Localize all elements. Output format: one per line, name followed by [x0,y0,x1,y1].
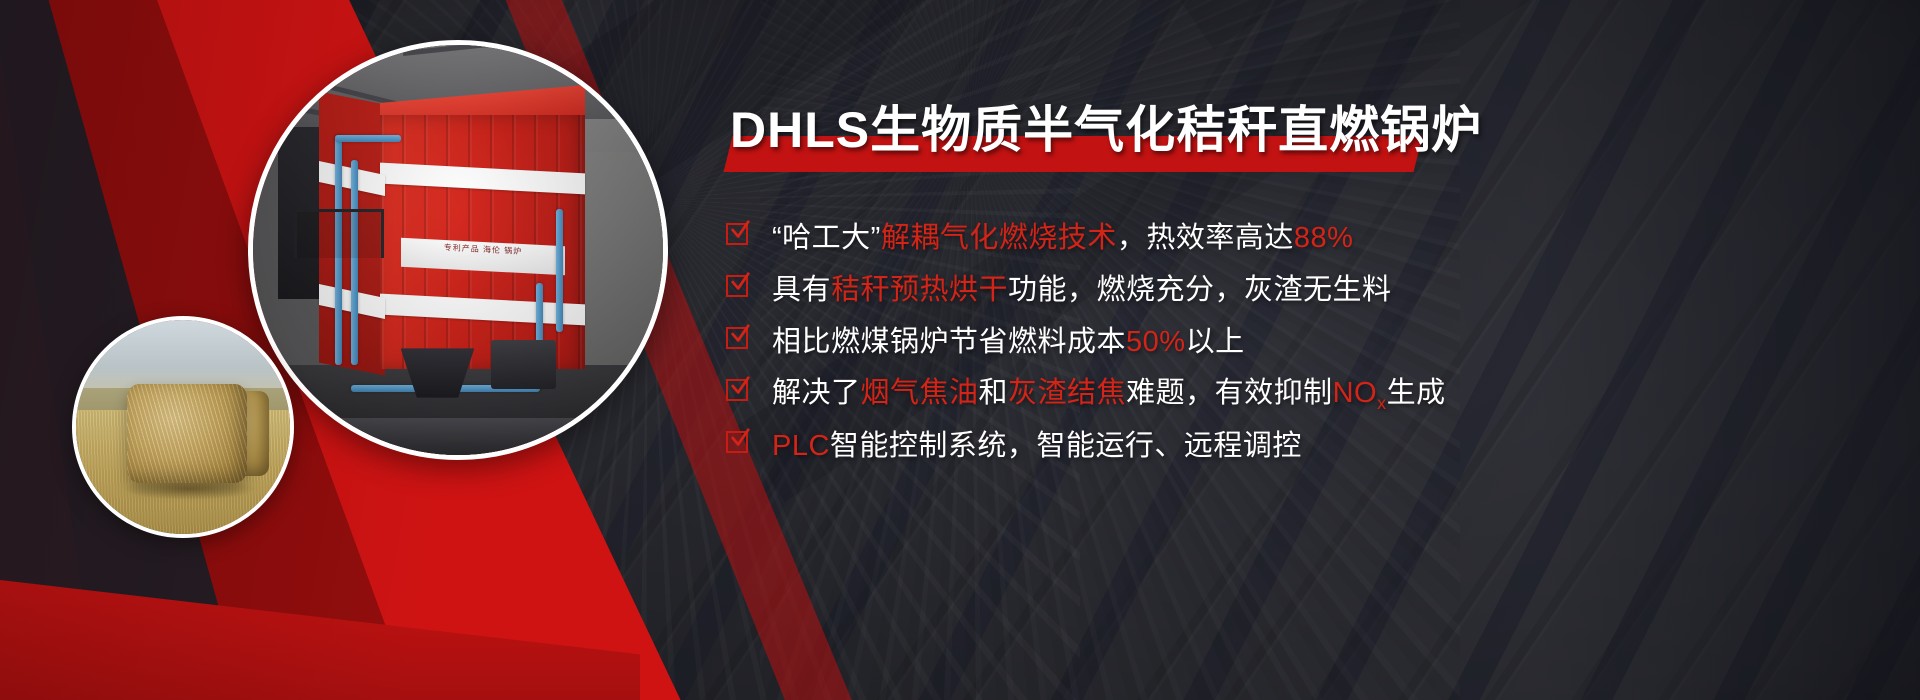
feature-text: PLC智能控制系统，智能运行、远程调控 [772,422,1302,464]
straw-bale-photo [72,316,294,538]
checkbox-checked-icon [726,379,750,403]
feature-text: “哈工大”解耦气化燃烧技术，热效率高达88% [772,214,1353,256]
photo-haze [253,45,663,455]
straw-bale-texture [127,384,247,482]
checkbox-checked-icon [726,275,750,299]
feature-text: 相比燃煤锅炉节省燃料成本50%以上 [772,318,1245,360]
feature-item: “哈工大”解耦气化燃烧技术，热效率高达88% [726,210,1886,260]
feature-text: 解决了烟气焦油和灰渣结焦难题，有效抑制NOx生成 [772,369,1446,414]
checkbox-checked-icon [726,431,750,455]
title-block: DHLS生物质半气化秸秆直燃锅炉 [730,96,1630,172]
feature-item: 相比燃煤锅炉节省燃料成本50%以上 [726,314,1886,364]
feature-item: PLC智能控制系统，智能运行、远程调控 [726,418,1886,468]
page-title: DHLS生物质半气化秸秆直燃锅炉 [730,96,1482,164]
feature-item: 解决了烟气焦油和灰渣结焦难题，有效抑制NOx生成 [726,366,1886,416]
checkbox-checked-icon [726,327,750,351]
feature-item: 具有秸秆预热烘干功能，燃烧充分，灰渣无生料 [726,262,1886,312]
checkbox-checked-icon [726,223,750,247]
feature-list: “哈工大”解耦气化燃烧技术，热效率高达88%具有秸秆预热烘干功能，燃烧充分，灰渣… [726,210,1886,470]
boiler-photo: 专利产品 海伦 锅炉 [248,40,668,460]
feature-text: 具有秸秆预热烘干功能，燃烧充分，灰渣无生料 [772,266,1392,308]
promotional-banner: 专利产品 海伦 锅炉 DHLS生物质半气化秸秆直燃锅炉 “哈工大”解耦气化燃烧技… [0,0,1920,700]
